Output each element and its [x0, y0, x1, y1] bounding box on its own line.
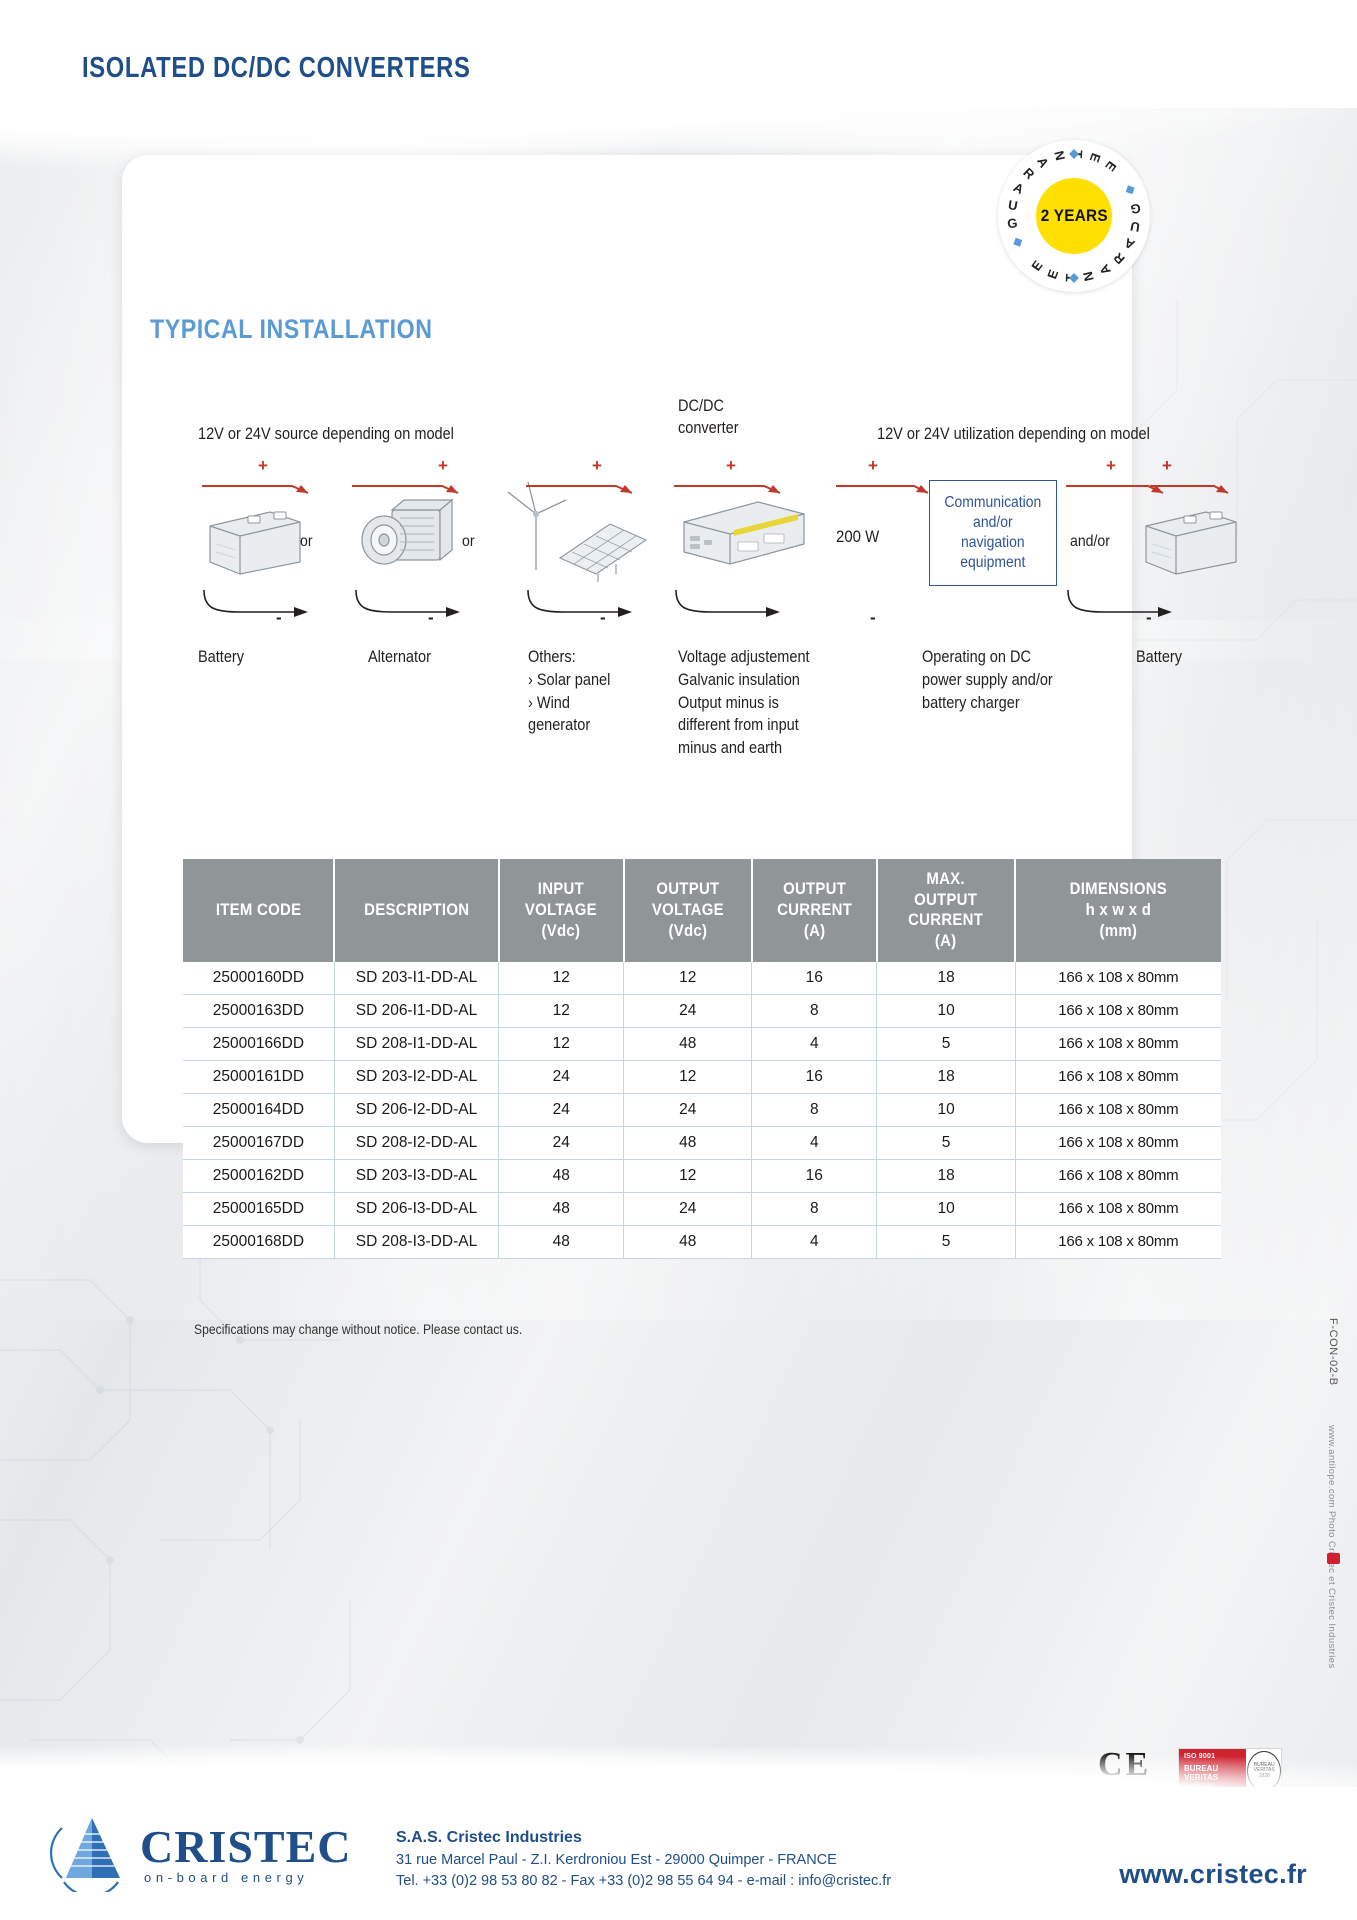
minus-sign-4: -: [870, 608, 876, 628]
document-code: F-CON-02-B: [1327, 1318, 1339, 1386]
table-row: 25000163DDSD 206-I1-DD-AL1224810166 x 10…: [183, 994, 1221, 1027]
guarantee-ring-letter: A: [1096, 262, 1114, 278]
plus-arrow-3: [524, 462, 640, 494]
guarantee-ring-letter: U: [1129, 219, 1141, 235]
table-cell: 24: [624, 994, 752, 1027]
table-cell: 4: [752, 1225, 877, 1258]
guarantee-ring-letter: A: [1011, 179, 1026, 197]
section-title: TYPICAL INSTALLATION: [150, 314, 433, 345]
plus-sign-1: +: [258, 456, 268, 476]
table-cell: 48: [624, 1126, 752, 1159]
table-body: 25000160DDSD 203-I1-DD-AL12121618166 x 1…: [183, 962, 1221, 1259]
minus-sign-3: -: [600, 608, 606, 628]
side-red-mark: [1327, 1553, 1340, 1564]
caption-operating: Operating on DC power supply and/or batt…: [922, 646, 1089, 714]
table-cell: 25000166DD: [183, 1027, 334, 1060]
table-cell: 25000164DD: [183, 1093, 334, 1126]
minus-arrow-3: [524, 586, 640, 622]
diagram-converter-label: DC/DC converter: [678, 396, 784, 440]
table-cell: 4: [752, 1126, 877, 1159]
table-cell: 166 x 108 x 80mm: [1015, 994, 1221, 1027]
table-header-row: ITEM CODE DESCRIPTION INPUT VOLTAGE (Vdc…: [183, 859, 1221, 962]
table-cell: 10: [877, 1093, 1015, 1126]
plus-sign-2: +: [438, 456, 448, 476]
specifications-table: ITEM CODE DESCRIPTION INPUT VOLTAGE (Vdc…: [183, 859, 1221, 1259]
cristec-logo[interactable]: CRISTEC on-board energy: [44, 1812, 364, 1898]
minus-sign-1: -: [276, 608, 282, 628]
table-cell: 25000163DD: [183, 994, 334, 1027]
table-cell: SD 206-I2-DD-AL: [334, 1093, 498, 1126]
table-cell: 8: [752, 1093, 877, 1126]
col-output-voltage: OUTPUT VOLTAGE (Vdc): [624, 859, 752, 962]
table-cell: SD 208-I2-DD-AL: [334, 1126, 498, 1159]
table-cell: 25000162DD: [183, 1159, 334, 1192]
table-cell: 25000161DD: [183, 1060, 334, 1093]
guarantee-ring-letter: N: [1051, 149, 1068, 162]
table-cell: 24: [624, 1093, 752, 1126]
company-address: 31 rue Marcel Paul - Z.I. Kerdroniou Est…: [396, 1850, 891, 1871]
guarantee-ring-letter: E: [1028, 258, 1045, 274]
minus-arrow-1: [200, 586, 316, 622]
col-input-voltage: INPUT VOLTAGE (Vdc): [499, 859, 624, 962]
guarantee-ring-letter: R: [1111, 250, 1128, 267]
table-row: 25000162DDSD 203-I3-DD-AL48121618166 x 1…: [183, 1159, 1221, 1192]
table-cell: 16: [752, 962, 877, 995]
table-row: 25000168DDSD 208-I3-DD-AL484845166 x 108…: [183, 1225, 1221, 1258]
caption-converter-features: Voltage adjustement Galvanic insulation …: [678, 646, 836, 760]
table-cell: SD 206-I1-DD-AL: [334, 994, 498, 1027]
table-cell: SD 208-I1-DD-AL: [334, 1027, 498, 1060]
table-row: 25000165DDSD 206-I3-DD-AL4824810166 x 10…: [183, 1192, 1221, 1225]
table-cell: 16: [752, 1060, 877, 1093]
guarantee-ring-letter: A: [1122, 235, 1137, 253]
guarantee-badge: GUARANTEEGUARANTEE 2 YEARS: [998, 140, 1150, 292]
caption-battery-left: Battery: [198, 646, 304, 669]
page-title: ISOLATED DC/DC CONVERTERS: [82, 52, 471, 85]
table-cell: 48: [499, 1225, 624, 1258]
battery-right-icon: [1132, 500, 1250, 578]
guarantee-years-label: 2 YEARS: [1040, 206, 1107, 226]
table-footnote: Specifications may change without notice…: [194, 1322, 522, 1337]
converter-power-label: 200 W: [836, 527, 879, 547]
col-max-output-current-label: MAX. OUTPUT CURRENT (A): [909, 869, 984, 952]
minus-arrow-5: [1064, 586, 1180, 622]
table-cell: 166 x 108 x 80mm: [1015, 1192, 1221, 1225]
minus-arrow-4: [672, 586, 788, 622]
table-cell: 24: [499, 1060, 624, 1093]
table-cell: 48: [624, 1225, 752, 1258]
table-cell: 48: [499, 1192, 624, 1225]
table-cell: SD 203-I1-DD-AL: [334, 962, 498, 995]
guarantee-ring-diamond: [1126, 185, 1135, 194]
minus-arrow-2: [352, 586, 468, 622]
table-cell: 18: [877, 962, 1015, 995]
design-credit: www.antilope.com Photo Cristec et Criste…: [1326, 1425, 1337, 1669]
table-cell: 12: [624, 1060, 752, 1093]
cristec-tagline: on-board energy: [144, 1870, 308, 1885]
table-row: 25000167DDSD 208-I2-DD-AL244845166 x 108…: [183, 1126, 1221, 1159]
table-cell: 10: [877, 994, 1015, 1027]
table-cell: 18: [877, 1060, 1015, 1093]
table-cell: 16: [752, 1159, 877, 1192]
table-cell: 5: [877, 1027, 1015, 1060]
table-cell: 24: [499, 1093, 624, 1126]
table-cell: 5: [877, 1225, 1015, 1258]
plus-sign-5: +: [868, 456, 878, 476]
or-label-1: or: [300, 533, 313, 551]
table-cell: 166 x 108 x 80mm: [1015, 1093, 1221, 1126]
table-cell: 25000165DD: [183, 1192, 334, 1225]
col-output-current-label: OUTPUT CURRENT (A): [777, 879, 852, 941]
table-cell: SD 203-I3-DD-AL: [334, 1159, 498, 1192]
diagram-utilization-label: 12V or 24V utilization depending on mode…: [877, 424, 1167, 446]
diagram-source-label: 12V or 24V source depending on model: [198, 424, 462, 446]
guarantee-badge-core: 2 YEARS: [1036, 178, 1112, 254]
battery-left-icon: [196, 500, 314, 578]
footer-contact: S.A.S. Cristec Industries 31 rue Marcel …: [396, 1829, 891, 1892]
table-row: 25000160DDSD 203-I1-DD-AL12121618166 x 1…: [183, 962, 1221, 995]
table-cell: 166 x 108 x 80mm: [1015, 1225, 1221, 1258]
plus-sign-3: +: [592, 456, 602, 476]
table-row: 25000161DDSD 203-I2-DD-AL24121618166 x 1…: [183, 1060, 1221, 1093]
table-cell: 10: [877, 1192, 1015, 1225]
or-label-2: or: [462, 533, 475, 551]
table-cell: 8: [752, 1192, 877, 1225]
cristec-sail-icon: [44, 1812, 140, 1892]
table-cell: 25000160DD: [183, 962, 334, 995]
col-output-voltage-label: OUTPUT VOLTAGE (Vdc): [652, 879, 724, 941]
table-row: 25000164DDSD 206-I2-DD-AL2424810166 x 10…: [183, 1093, 1221, 1126]
table-cell: 4: [752, 1027, 877, 1060]
guarantee-ring-letter: U: [1007, 197, 1019, 213]
col-description: DESCRIPTION: [334, 859, 498, 962]
col-description-label: DESCRIPTION: [364, 900, 469, 921]
company-name: S.A.S. Cristec Industries: [396, 1829, 891, 1847]
guarantee-ring-diamond: [1013, 238, 1022, 247]
table-cell: 12: [499, 1027, 624, 1060]
minus-sign-5: -: [1146, 608, 1152, 628]
col-output-current: OUTPUT CURRENT (A): [752, 859, 877, 962]
guarantee-ring-letter: E: [1044, 268, 1061, 281]
table-cell: 12: [499, 962, 624, 995]
table-cell: 25000167DD: [183, 1126, 334, 1159]
table-cell: SD 206-I3-DD-AL: [334, 1192, 498, 1225]
plus-sign-4: +: [726, 456, 736, 476]
plus-arrow-2: [350, 462, 466, 494]
table-cell: 24: [499, 1126, 624, 1159]
plus-arrow-5: [834, 462, 934, 494]
table-cell: 48: [624, 1027, 752, 1060]
table-cell: 48: [499, 1159, 624, 1192]
table-cell: 12: [624, 1159, 752, 1192]
col-item-code-label: ITEM CODE: [215, 900, 300, 921]
table-cell: 12: [499, 994, 624, 1027]
col-input-voltage-label: INPUT VOLTAGE (Vdc): [525, 879, 597, 941]
minus-sign-2: -: [428, 608, 434, 628]
guarantee-ring-letter: A: [1034, 154, 1052, 170]
and-or-label: and/or: [1070, 533, 1110, 551]
plus-sign-6: +: [1106, 456, 1116, 476]
table-cell: 5: [877, 1126, 1015, 1159]
communication-equipment-label: Communication and/or navigation equipmen…: [945, 493, 1042, 574]
table-cell: 25000168DD: [183, 1225, 334, 1258]
table-cell: 166 x 108 x 80mm: [1015, 1126, 1221, 1159]
alternator-icon: [348, 492, 468, 582]
website-url[interactable]: www.cristec.fr: [1119, 1859, 1307, 1890]
table-cell: 12: [624, 962, 752, 995]
table-cell: 24: [624, 1192, 752, 1225]
table-cell: 166 x 108 x 80mm: [1015, 1159, 1221, 1192]
table-cell: 8: [752, 994, 877, 1027]
caption-battery-right: Battery: [1136, 646, 1233, 669]
company-contact-line: Tel. +33 (0)2 98 53 80 82 - Fax +33 (0)2…: [396, 1871, 891, 1892]
communication-equipment-box: Communication and/or navigation equipmen…: [929, 480, 1057, 586]
col-max-output-current: MAX. OUTPUT CURRENT (A): [877, 859, 1015, 962]
guarantee-ring-letter: E: [1087, 151, 1104, 164]
plus-arrow-7: [1148, 462, 1234, 494]
table-cell: SD 208-I3-DD-AL: [334, 1225, 498, 1258]
guarantee-ring-letter: E: [1102, 158, 1119, 174]
col-dimensions-label: DIMENSIONS h x w x d (mm): [1070, 879, 1167, 941]
cristec-wordmark: CRISTEC: [140, 1820, 352, 1873]
guarantee-ring-letter: R: [1020, 165, 1037, 182]
plus-sign-7: +: [1162, 456, 1172, 476]
guarantee-ring-letter: G: [1130, 201, 1142, 217]
caption-others: Others: › Solar panel › Wind generator: [528, 646, 660, 737]
guarantee-ring-letter: N: [1080, 270, 1097, 283]
guarantee-ring-letter: G: [1007, 215, 1019, 231]
col-item-code: ITEM CODE: [183, 859, 334, 962]
table-cell: 166 x 108 x 80mm: [1015, 1060, 1221, 1093]
table-cell: 18: [877, 1159, 1015, 1192]
dcdc-converter-icon: [672, 488, 812, 574]
table-cell: 166 x 108 x 80mm: [1015, 1027, 1221, 1060]
caption-alternator: Alternator: [368, 646, 491, 669]
col-dimensions: DIMENSIONS h x w x d (mm): [1015, 859, 1221, 962]
table-cell: SD 203-I2-DD-AL: [334, 1060, 498, 1093]
table-cell: 166 x 108 x 80mm: [1015, 962, 1221, 995]
table-row: 25000166DDSD 208-I1-DD-AL124845166 x 108…: [183, 1027, 1221, 1060]
